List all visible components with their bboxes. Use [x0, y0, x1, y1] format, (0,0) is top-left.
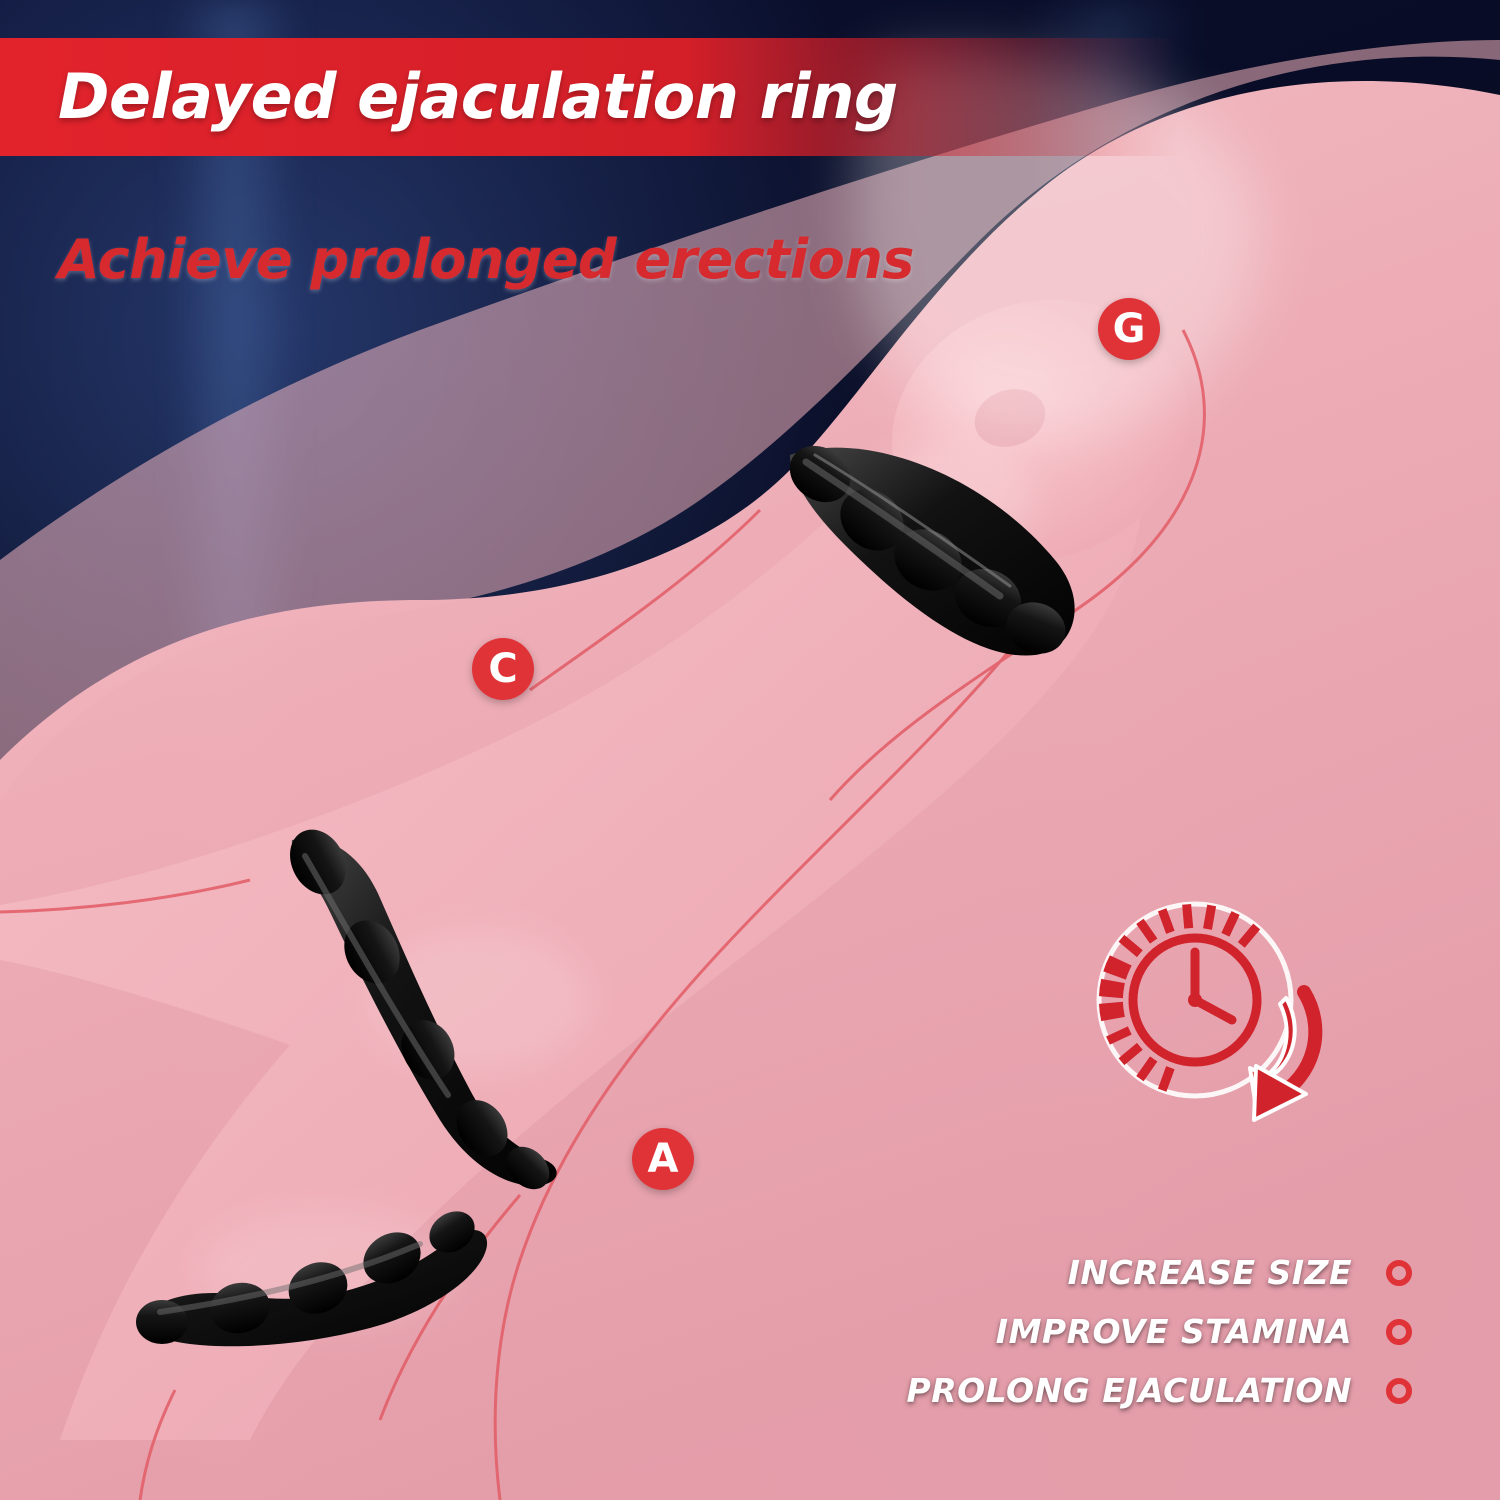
list-item: IMPROVE STAMINA: [907, 1312, 1412, 1351]
page-title: Delayed ejaculation ring: [58, 60, 898, 133]
product-infographic: Delayed ejaculation ring Achieve prolong…: [0, 0, 1500, 1500]
list-item: INCREASE SIZE: [907, 1253, 1412, 1292]
callout-badge-g: G: [1098, 298, 1160, 360]
circle-outline-bullet-icon: [1386, 1378, 1412, 1404]
page-subtitle: Achieve prolonged erections: [58, 228, 914, 291]
clock-timer-icon: [1060, 880, 1360, 1150]
circle-outline-bullet-icon: [1386, 1319, 1412, 1345]
feature-list: INCREASE SIZE IMPROVE STAMINA PROLONG EJ…: [907, 1253, 1412, 1430]
callout-badge-c: C: [472, 638, 534, 700]
feature-label: IMPROVE STAMINA: [996, 1312, 1352, 1351]
callout-badge-a: A: [632, 1128, 694, 1190]
circle-outline-bullet-icon: [1386, 1260, 1412, 1286]
feature-label: INCREASE SIZE: [1068, 1253, 1352, 1292]
list-item: PROLONG EJACULATION: [907, 1371, 1412, 1410]
feature-label: PROLONG EJACULATION: [907, 1371, 1352, 1410]
